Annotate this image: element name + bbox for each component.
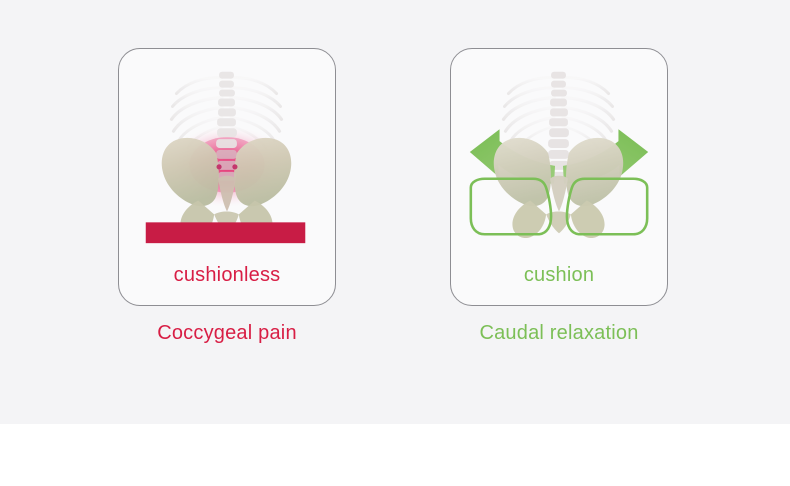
pelvis-spine-cushion-diagram	[451, 49, 667, 255]
caption-caudal-relaxation: Caudal relaxation	[450, 322, 668, 345]
panel-cushionless[interactable]: cushionless	[118, 48, 336, 306]
panel-label-cushionless: cushionless	[119, 264, 335, 287]
caption-coccygeal-pain: Coccygeal pain	[118, 322, 336, 345]
hard-seat-bar	[146, 222, 306, 243]
comparison-figure: cushionless	[0, 0, 790, 486]
pelvis-spine-pain-diagram	[119, 49, 335, 255]
panel-label-cushion: cushion	[451, 264, 667, 287]
panel-cushion[interactable]: cushion	[450, 48, 668, 306]
